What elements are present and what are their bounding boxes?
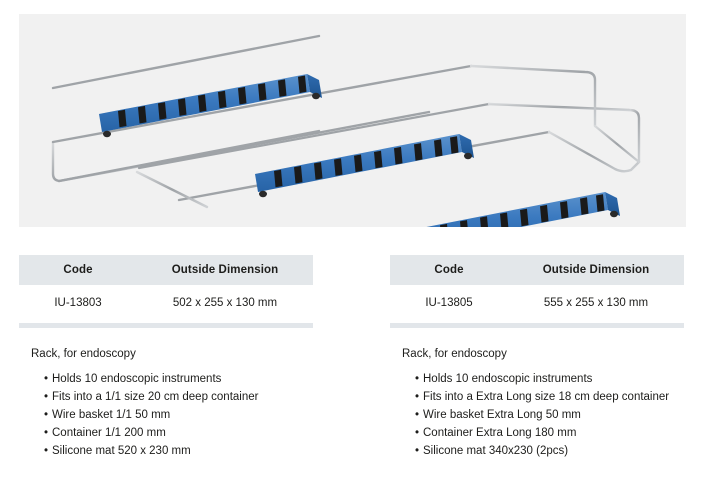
list-item-label: Fits into a 1/1 size 20 cm deep containe… <box>52 391 258 403</box>
table-row: IU-13805 555 x 255 x 130 mm <box>390 285 684 321</box>
column-header-code: Code <box>19 255 137 285</box>
list-item: •Fits into a 1/1 size 20 cm deep contain… <box>44 388 313 406</box>
bullet-icon: • <box>44 406 48 424</box>
list-item-label: Wire basket 1/1 50 mm <box>52 409 170 421</box>
column-header-code: Code <box>390 255 508 285</box>
list-item: •Silicone mat 520 x 230 mm <box>44 442 313 460</box>
instrument-holder-bar-middle <box>255 134 474 197</box>
list-item: •Wire basket Extra Long 50 mm <box>415 406 684 424</box>
table-row: IU-13803 502 x 255 x 130 mm <box>19 285 313 321</box>
list-item: •Container Extra Long 180 mm <box>415 424 684 442</box>
column-header-outside-dimension: Outside Dimension <box>508 255 684 285</box>
product-image-panel <box>19 14 686 227</box>
bullet-icon: • <box>44 424 48 442</box>
list-item: •Holds 10 endoscopic instruments <box>44 370 313 388</box>
bullet-icon: • <box>415 442 419 460</box>
table-underbar <box>19 323 313 328</box>
endoscopy-rack-illustration <box>19 14 686 227</box>
list-item: •Wire basket 1/1 50 mm <box>44 406 313 424</box>
list-item-label: Fits into a Extra Long size 18 cm deep c… <box>423 391 669 403</box>
cell-outside-dimension: 502 x 255 x 130 mm <box>137 285 313 321</box>
description-title: Rack, for endoscopy <box>31 348 313 362</box>
list-item-label: Container Extra Long 180 mm <box>423 427 576 439</box>
column-header-outside-dimension: Outside Dimension <box>137 255 313 285</box>
cell-code: IU-13803 <box>19 285 137 321</box>
list-item-label: Holds 10 endoscopic instruments <box>52 373 221 385</box>
variant-column-right: Code Outside Dimension IU-13805 555 x 25… <box>390 255 684 461</box>
table-underbar <box>390 323 684 328</box>
cell-code: IU-13805 <box>390 285 508 321</box>
list-item-label: Holds 10 endoscopic instruments <box>423 373 592 385</box>
list-item-label: Silicone mat 340x230 (2pcs) <box>423 445 568 457</box>
table-header-row: Code Outside Dimension <box>19 255 313 285</box>
table-header-row: Code Outside Dimension <box>390 255 684 285</box>
description-title: Rack, for endoscopy <box>402 348 684 362</box>
bullet-icon: • <box>44 442 48 460</box>
bullet-icon: • <box>415 370 419 388</box>
list-item-label: Silicone mat 520 x 230 mm <box>52 445 191 457</box>
bullet-icon: • <box>415 406 419 424</box>
instrument-holder-bar-front <box>401 192 620 227</box>
bullet-icon: • <box>415 388 419 406</box>
cell-outside-dimension: 555 x 255 x 130 mm <box>508 285 684 321</box>
spec-table-left: Code Outside Dimension IU-13803 502 x 25… <box>19 255 313 321</box>
list-item: •Container 1/1 200 mm <box>44 424 313 442</box>
list-item: •Fits into a Extra Long size 18 cm deep … <box>415 388 684 406</box>
feature-list: •Holds 10 endoscopic instruments •Fits i… <box>31 370 313 461</box>
feature-list: •Holds 10 endoscopic instruments •Fits i… <box>402 370 684 461</box>
list-item-label: Wire basket Extra Long 50 mm <box>423 409 581 421</box>
list-item: •Silicone mat 340x230 (2pcs) <box>415 442 684 460</box>
bullet-icon: • <box>44 370 48 388</box>
spec-table-right: Code Outside Dimension IU-13805 555 x 25… <box>390 255 684 321</box>
product-variants-columns: Code Outside Dimension IU-13803 502 x 25… <box>0 255 708 461</box>
bullet-icon: • <box>44 388 48 406</box>
variant-column-left: Code Outside Dimension IU-13803 502 x 25… <box>19 255 313 461</box>
description-block-right: Rack, for endoscopy •Holds 10 endoscopic… <box>390 348 684 461</box>
list-item-label: Container 1/1 200 mm <box>52 427 166 439</box>
list-item: •Holds 10 endoscopic instruments <box>415 370 684 388</box>
description-block-left: Rack, for endoscopy •Holds 10 endoscopic… <box>19 348 313 461</box>
bullet-icon: • <box>415 424 419 442</box>
